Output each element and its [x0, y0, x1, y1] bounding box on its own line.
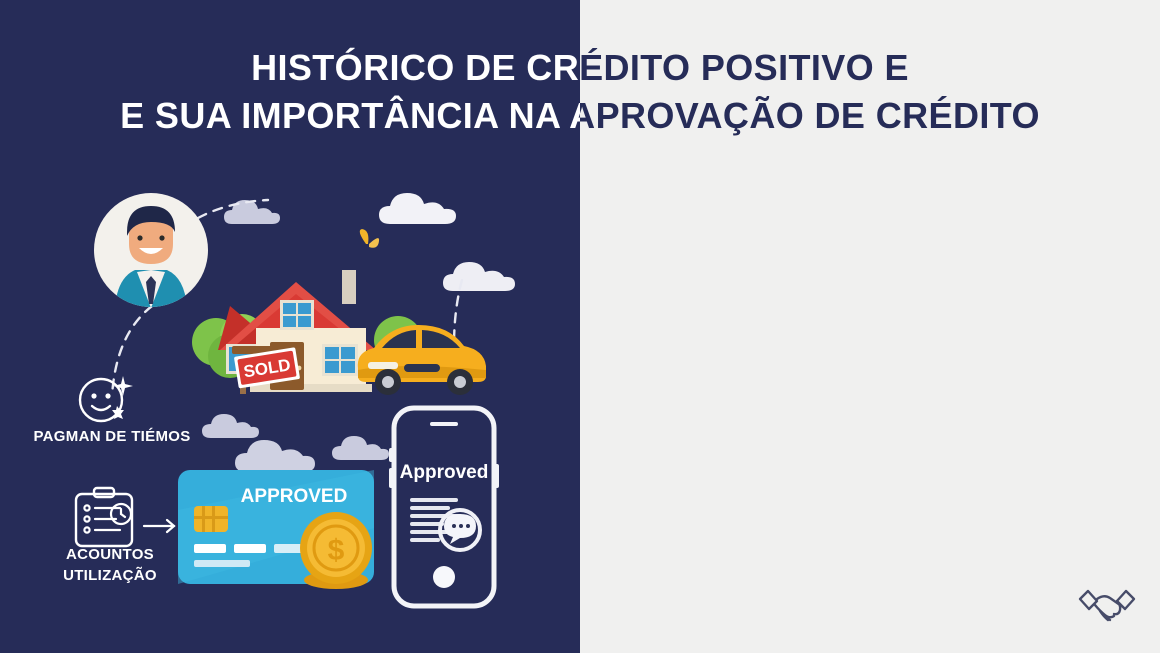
person-avatar — [93, 192, 209, 308]
yellow-car-illustration — [352, 312, 492, 394]
left-label-line: PAGMAN DE TIÉMOS — [12, 426, 212, 447]
svg-text:$: $ — [328, 534, 345, 567]
left-label-account-usage: ACOUNTOS UTILIZAÇÃO — [30, 544, 190, 586]
dashed-connector — [196, 196, 286, 236]
left-label-line: UTILIZAÇÃO — [30, 565, 190, 586]
left-panel: SOLD APPROVED — [0, 0, 580, 653]
card-status-text: APPROVED — [241, 486, 348, 507]
handshake-watermark-icon — [1076, 579, 1138, 625]
left-label-payment-history: PAGMAN DE TIÉMOS — [12, 426, 212, 447]
clipboard-checklist-icon — [68, 488, 184, 548]
smartphone-illustration: Approved — [388, 402, 504, 614]
left-label-line: ACOUNTOS — [30, 544, 190, 565]
smiley-sparkle-icon — [73, 372, 139, 424]
infographic-canvas: SOLD APPROVED — [0, 0, 1160, 653]
phone-screen-text: Approved — [400, 462, 489, 483]
cloud-decoration — [376, 186, 472, 230]
right-panel: ACESSO A MELHORES TAXAS DE JUROS — [580, 0, 1160, 653]
dollar-coin-icon: $ — [296, 508, 376, 592]
